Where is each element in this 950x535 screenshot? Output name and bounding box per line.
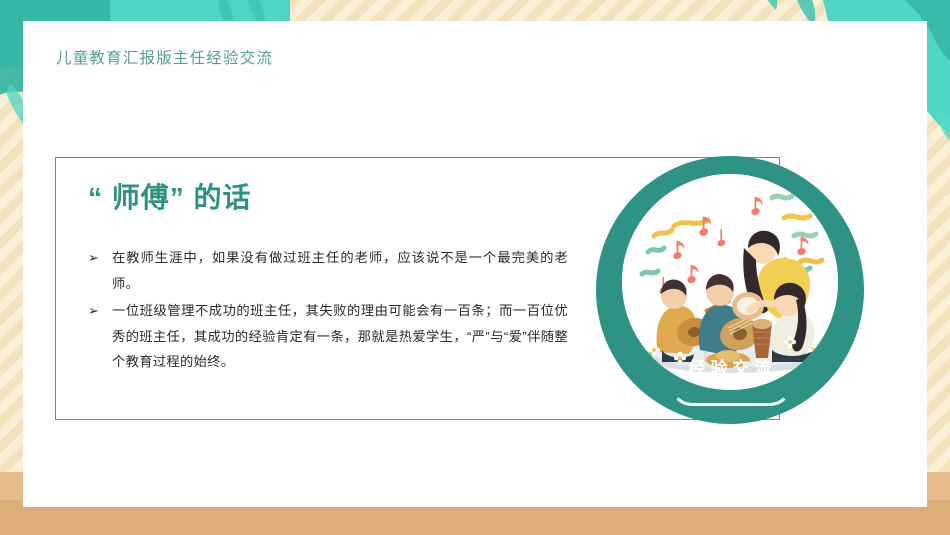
list-item: ➢ 一位班级管理不成功的班主任，其失败的理由可能会有一百条；而一百位优秀的班主任… [88,298,568,375]
badge-arc-decoration [670,384,792,406]
section-heading: “ 师傅” 的话 [88,176,252,216]
list-item-text: 在教师生涯中，如果没有做过班主任的老师，应该说不是一个最完美的老师。 [112,245,568,296]
bullet-list: ➢ 在教师生涯中，如果没有做过班主任的老师，应该说不是一个最完美的老师。 ➢ 一… [88,245,568,377]
chevron-bullet-icon: ➢ [88,245,112,271]
list-item-text: 一位班级管理不成功的班主任，其失败的理由可能会有一百条；而一百位优秀的班主任，其… [112,298,568,375]
page-title: 儿童教育汇报版主任经验交流 [56,46,273,68]
chevron-bullet-icon: ➢ [88,298,112,324]
slide-canvas: 儿童教育汇报版主任经验交流 “ 师傅” 的话 ➢ 在教师生涯中，如果没有做过班主… [0,0,950,535]
circular-badge: 经验交流 [596,156,864,424]
list-item: ➢ 在教师生涯中，如果没有做过班主任的老师，应该说不是一个最完美的老师。 [88,245,568,296]
badge-label: 经验交流 [596,354,864,379]
